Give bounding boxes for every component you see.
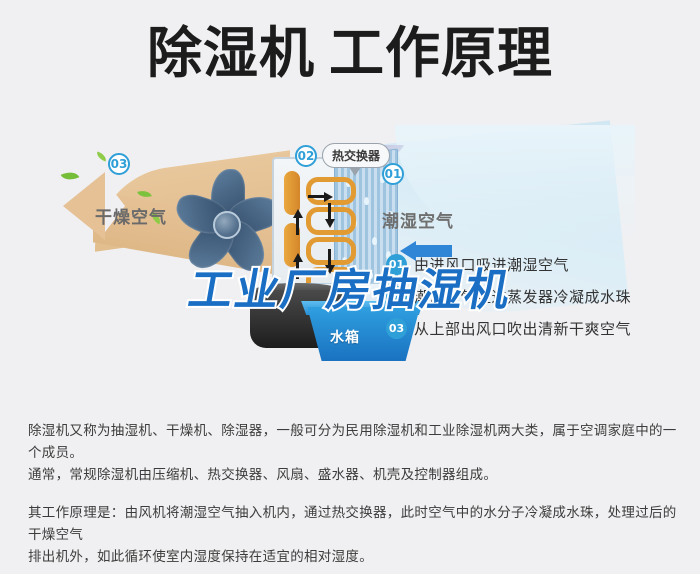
step-number: 03 [386, 318, 407, 339]
paragraph-1: 除湿机又称为抽湿机、干燥机、除湿器，一般可分为民用除湿机和工业除湿机两大类，属于… [28, 420, 678, 486]
callout-number-humid-air: 01 [382, 163, 404, 185]
paragraph-2-line-2: 排出机外，如此循环使室内湿度保持在适宜的相对湿度。 [28, 549, 373, 565]
page-title: 除湿机工作原理 [0, 22, 700, 84]
humid-air-label: 潮湿空气 [382, 207, 454, 232]
watermark-text: 工业厂房抽湿机 [185, 268, 515, 314]
callout-number-heat-exchanger: 02 [295, 145, 317, 167]
body-copy: 除湿机又称为抽湿机、干燥机、除湿器，一般可分为民用除湿机和工业除湿机两大类，属于… [28, 420, 678, 574]
infographic-page: 除湿机工作原理 03 干燥空气 [0, 0, 700, 566]
callout-number-dry-air: 03 [108, 153, 130, 175]
paragraph-2: 其工作原理是：由风机将潮湿空气抽入机内，通过热交换器，此时空气中的水分子冷凝成水… [28, 502, 678, 568]
step-item: 03 从上部出风口吹出清新干爽空气 [386, 312, 686, 344]
paragraph-1-line-1: 除湿机又称为抽湿机、干燥机、除湿器，一般可分为民用除湿机和工业除湿机两大类，属于… [28, 423, 677, 461]
water-tank-label: 水箱 [330, 327, 360, 347]
dry-air-label: 干燥空气 [95, 203, 167, 228]
heat-exchanger-label-bubble: 热交换器 [322, 143, 390, 168]
title-part-2: 工作原理 [329, 21, 553, 85]
fan-graphic [165, 163, 277, 275]
step-text: 从上部出风口吹出清新干爽空气 [414, 318, 631, 339]
paragraph-1-line-2: 通常，常规除湿机由压缩机、热交换器、风扇、盛水器、机壳及控制器组成。 [28, 467, 497, 483]
title-part-1: 除湿机 [147, 21, 315, 85]
paragraph-2-line-1: 其工作原理是：由风机将潮湿空气抽入机内，通过热交换器，此时空气中的水分子冷凝成水… [28, 505, 677, 543]
